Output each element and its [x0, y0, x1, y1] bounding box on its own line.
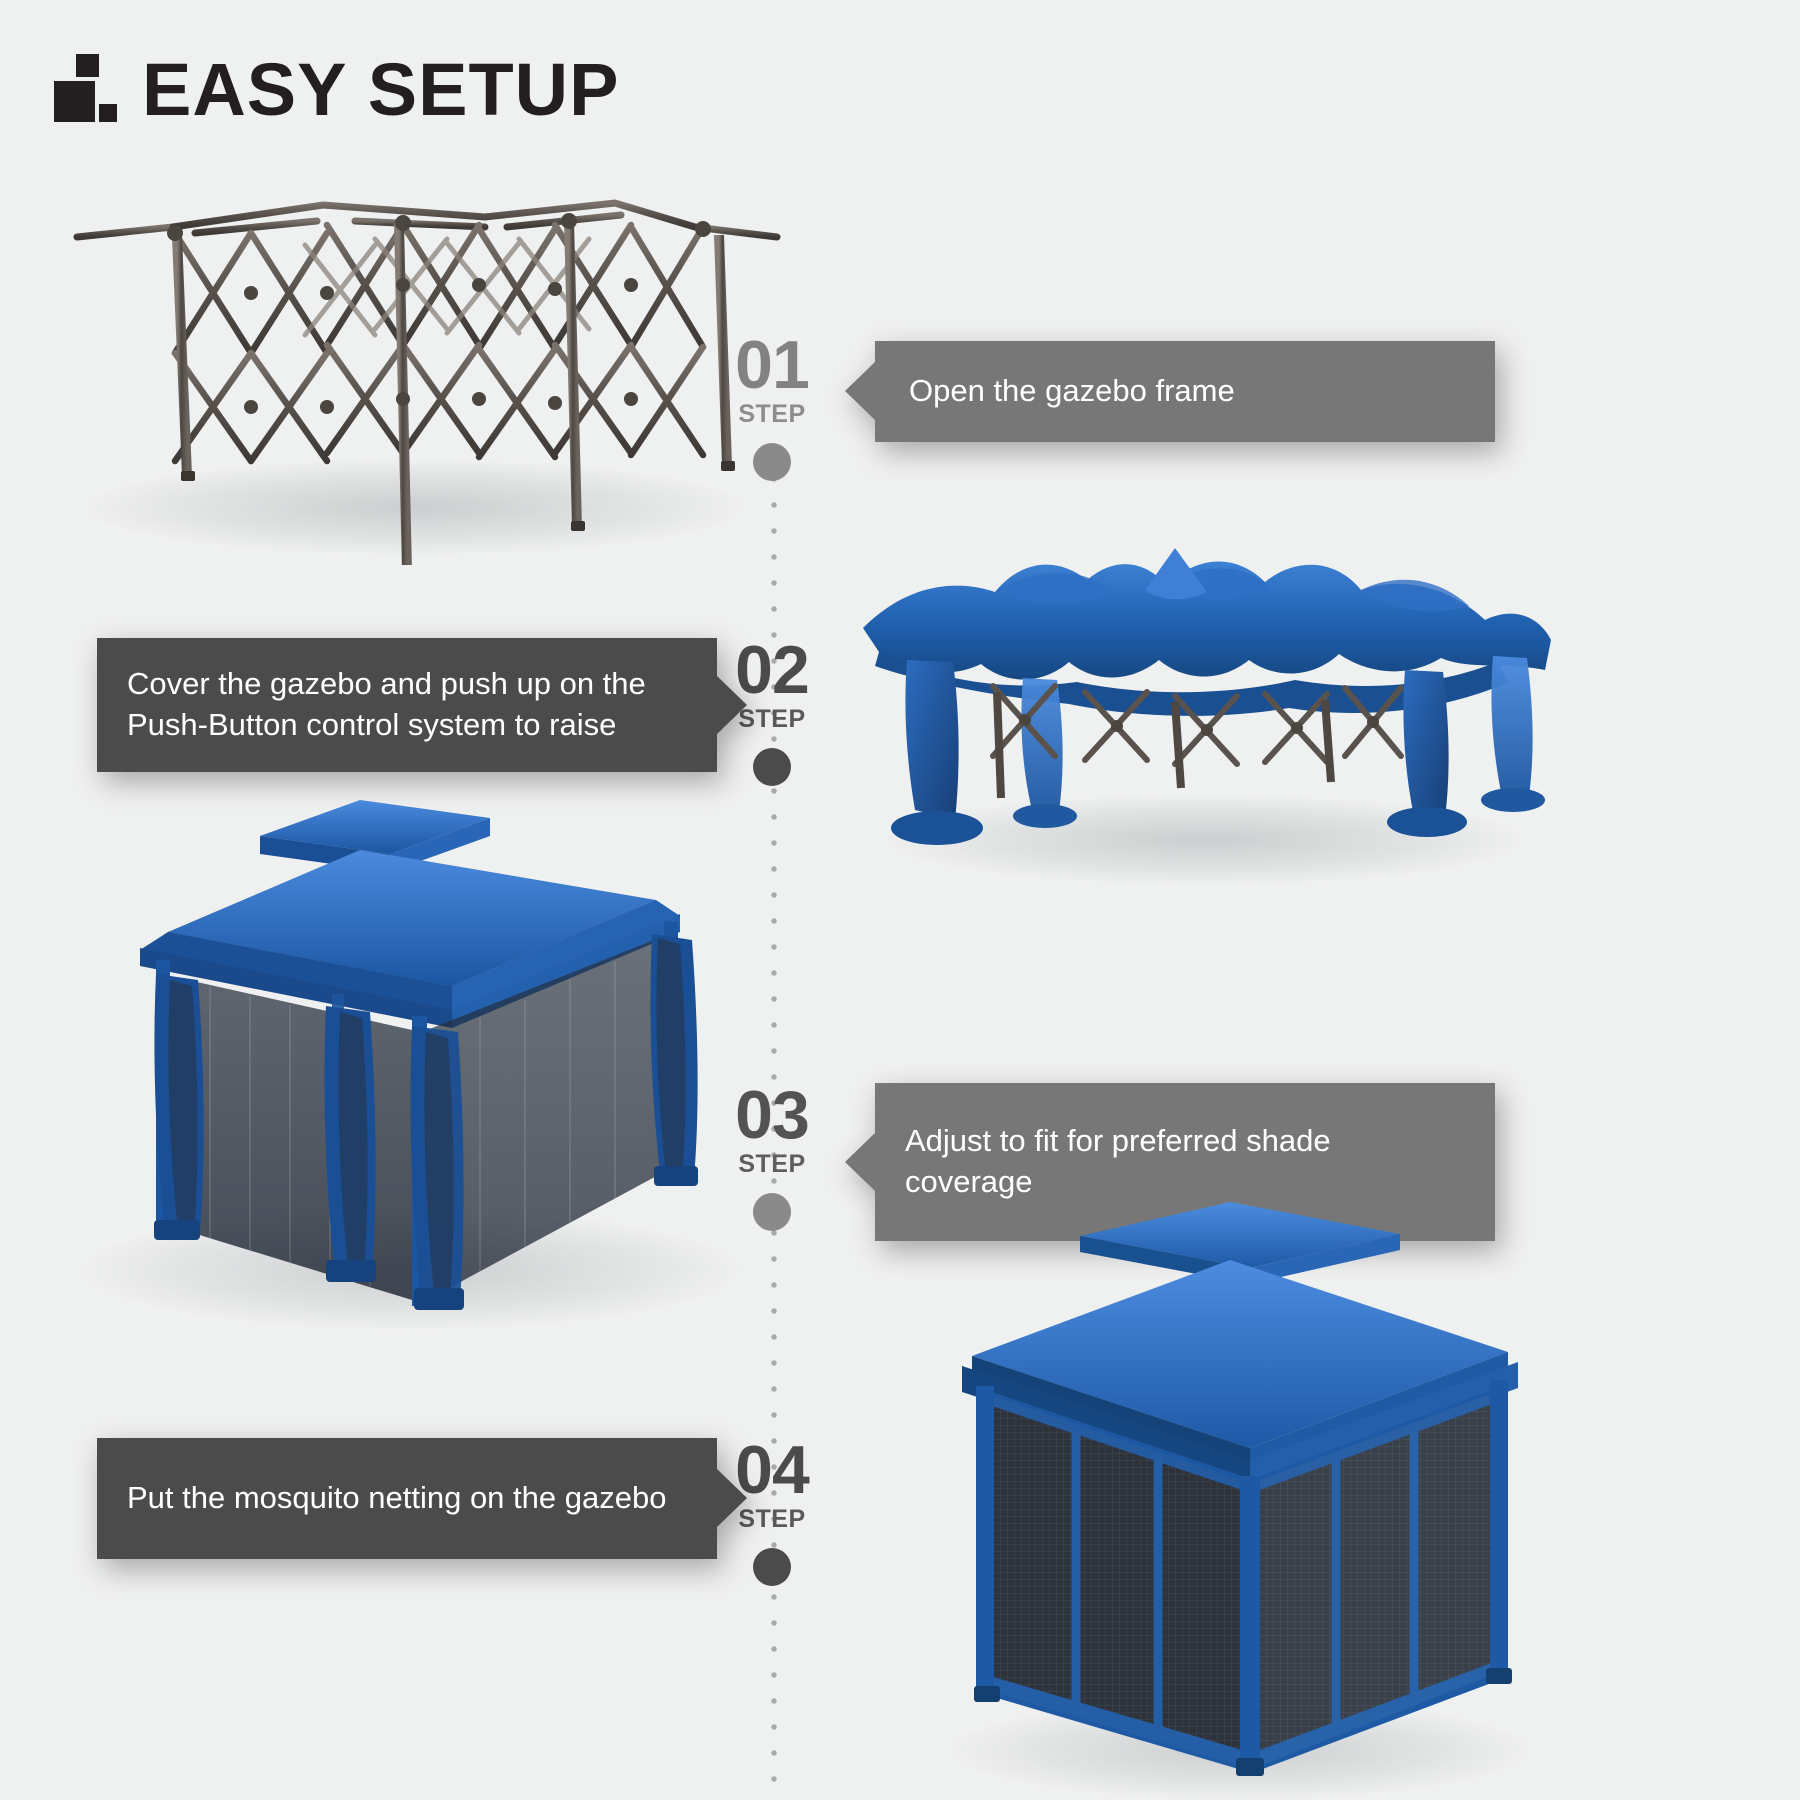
step-03-label: 03 STEP: [712, 1083, 832, 1179]
step-01-label: 01 STEP: [712, 333, 832, 429]
gazebo-raised-photo: [60, 780, 760, 1340]
gazebo-covered-photo: [845, 520, 1565, 890]
step-04-marker-dot: [753, 1548, 791, 1586]
step-01-text: Open the gazebo frame: [909, 373, 1235, 408]
step-03-marker-dot: [753, 1193, 791, 1231]
step-04-text: Put the mosquito netting on the gazebo: [127, 1480, 666, 1515]
banner-arrow-right-icon: [717, 1469, 747, 1527]
step-03-word: STEP: [712, 1150, 832, 1179]
gazebo-netting-photo: [930, 1180, 1550, 1800]
step-02-text: Cover the gazebo and push up on the Push…: [127, 666, 646, 742]
step-01-number: 01: [712, 333, 832, 398]
page-header: EASY SETUP: [54, 54, 619, 122]
three-squares-logo-icon: [54, 54, 116, 122]
page-title: EASY SETUP: [142, 59, 619, 122]
step-01-word: STEP: [712, 400, 832, 429]
step-01-marker-dot: [753, 443, 791, 481]
infographic-canvas: EASY SETUP: [0, 0, 1800, 1800]
gazebo-frame-photo: [55, 175, 795, 565]
step-01-banner[interactable]: Open the gazebo frame: [875, 341, 1495, 442]
step-03-number: 03: [712, 1083, 832, 1148]
step-04-banner[interactable]: Put the mosquito netting on the gazebo: [97, 1438, 717, 1559]
banner-arrow-left-icon: [845, 1133, 875, 1191]
banner-arrow-left-icon: [845, 362, 875, 420]
banner-arrow-right-icon: [717, 676, 747, 734]
step-02-banner[interactable]: Cover the gazebo and push up on the Push…: [97, 638, 717, 772]
